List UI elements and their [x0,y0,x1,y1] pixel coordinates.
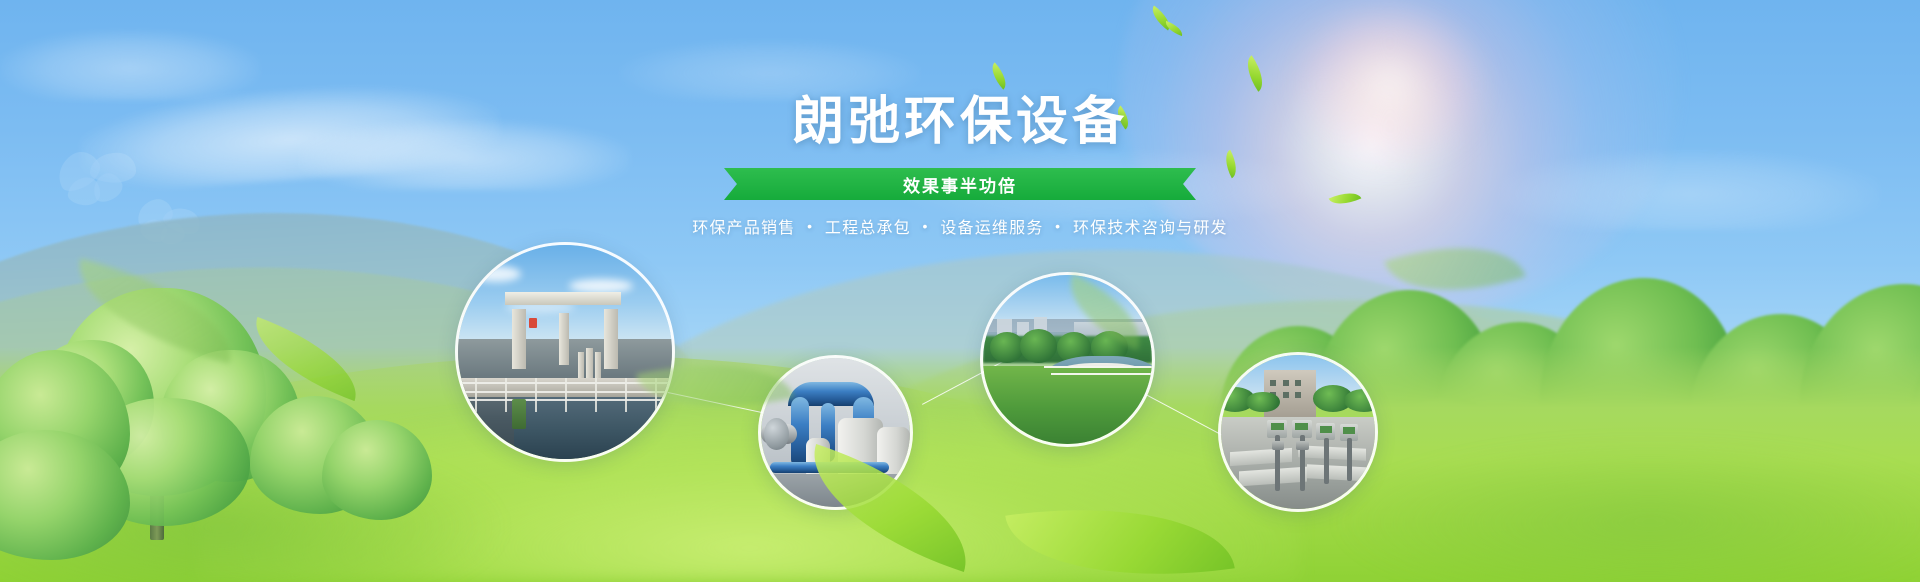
service-item-3: 设备运维服务 [940,220,1043,237]
ribbon-body: 效果事半功倍 [758,168,1162,200]
photo-filter-gate-plaza[interactable] [1218,352,1378,512]
separator-dot: • [917,218,935,234]
hero-banner: 朗弛环保设备 效果事半功倍 环保产品销售 • 工程总承包 • 设备运维服务 • … [0,0,1920,582]
service-item-2: 工程总承包 [825,220,911,237]
ribbon-text: 效果事半功倍 [903,172,1017,197]
ribbon: 效果事半功倍 [724,168,1196,200]
banner-text-block: 朗弛环保设备 效果事半功倍 环保产品销售 • 工程总承包 • 设备运维服务 • … [0,96,1920,238]
page-title: 朗弛环保设备 [0,96,1920,148]
separator-dot: • [1049,218,1067,234]
service-item-4: 环保技术咨询与研发 [1073,220,1228,237]
ribbon-tail-left [724,168,760,200]
service-item-1: 环保产品销售 [692,220,795,237]
separator-dot: • [801,218,819,234]
photo-pump-room-blue-pipes[interactable] [758,355,913,510]
photo-sewage-treatment-gantry[interactable] [455,242,675,462]
service-list: 环保产品销售 • 工程总承包 • 设备运维服务 • 环保技术咨询与研发 [0,214,1920,238]
ribbon-tail-right [1160,168,1196,200]
photo-circular-sedimentation-tank[interactable] [980,272,1155,447]
